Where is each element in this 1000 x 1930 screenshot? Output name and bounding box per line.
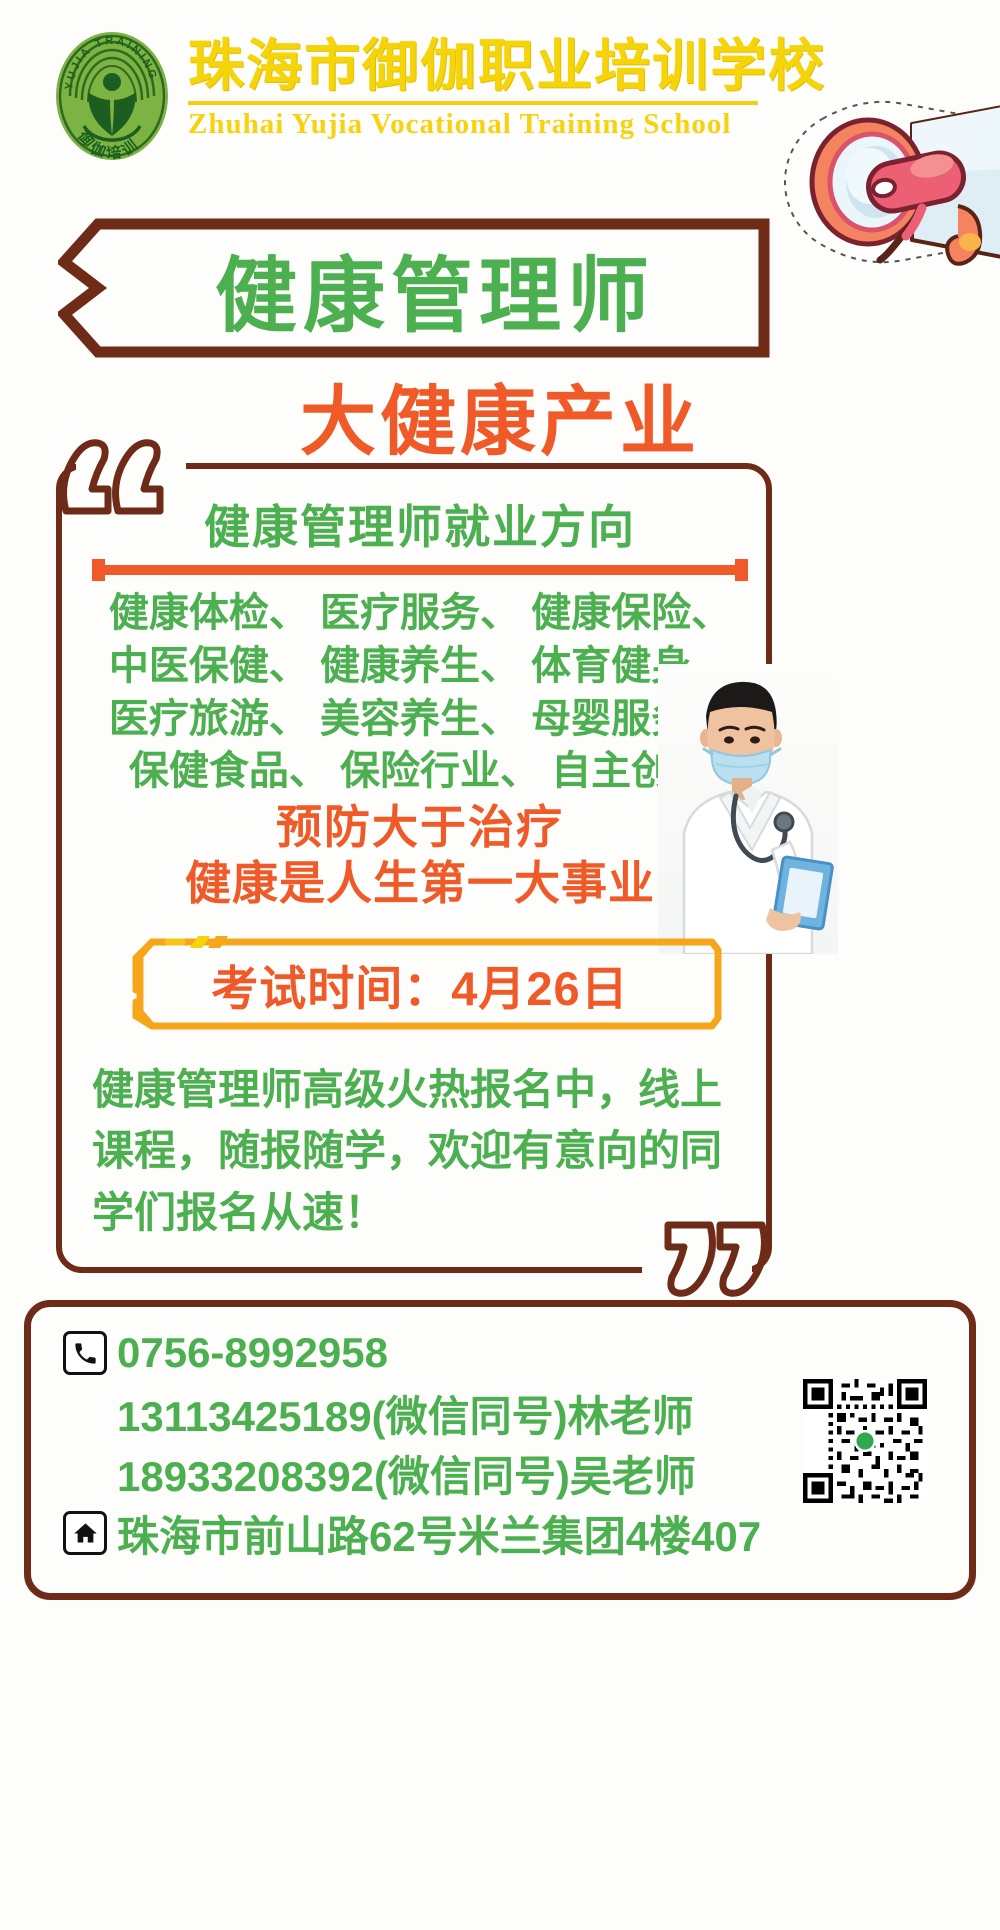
qr-code[interactable] [803, 1379, 927, 1503]
jobs-line: 保健食品、 保险行业、 自主创业 [84, 745, 756, 798]
jobs-line: 中医保健、 健康养生、 体育健身、 [84, 640, 756, 693]
jobs-line: 健康体检、 医疗服务、 健康保险、 [84, 587, 756, 640]
slogan-block: 预防大于治疗 健康是人生第一大事业 [62, 799, 778, 911]
main-title: 健康管理师 [58, 218, 770, 358]
poster-root: YUJIA TRAINING 御伽培训 珠海市御伽职业培训学校 Zhuhai Y… [0, 0, 1000, 1930]
school-name-cn: 珠海市御伽职业培训学校 [188, 38, 788, 97]
title-ribbon: 健康管理师 [58, 218, 770, 358]
content-card: 健康管理师就业方向 健康体检、 医疗服务、 健康保险、 中医保健、 健康养生、 … [56, 463, 772, 1273]
phone-icon [63, 1331, 107, 1375]
contact-text[interactable]: 0756-8992958 [117, 1329, 388, 1377]
slogan-line-2: 健康是人生第一大事业 [62, 855, 778, 911]
megaphone-icon [772, 88, 1000, 278]
promo-paragraph: 健康管理师高级火热报名中，线上课程，随报随学，欢迎有意向的同学们报名从速！ [92, 1059, 752, 1243]
slogan-line-1: 预防大于治疗 [62, 799, 778, 855]
contact-row-mobile-wu: 18933208392(微信同号)吴老师 [63, 1445, 823, 1501]
contact-row-address: 珠海市前山路62号米兰集团4楼407 [63, 1505, 823, 1561]
contact-text[interactable]: 13113425189(微信同号)林老师 [117, 1383, 694, 1444]
school-name-en: Zhuhai Yujia Vocational Training School [188, 108, 788, 141]
contact-text[interactable]: 18933208392(微信同号)吴老师 [117, 1443, 696, 1504]
jobs-list: 健康体检、 医疗服务、 健康保险、 中医保健、 健康养生、 体育健身、 医疗旅游… [84, 587, 756, 798]
jobs-line: 医疗旅游、 美容养生、 母婴服务、 [84, 693, 756, 746]
contact-row-phone: 0756-8992958 [63, 1325, 823, 1381]
home-icon [63, 1511, 107, 1555]
school-logo: YUJIA TRAINING 御伽培训 [52, 30, 172, 162]
contact-card: 0756-8992958 13113425189(微信同号)林老师 189332… [24, 1300, 976, 1600]
exam-time-box: 考试时间：4月26日 [112, 932, 728, 1036]
exam-time-text: 考试时间：4月26日 [112, 932, 728, 1036]
school-name-block: 珠海市御伽职业培训学校 Zhuhai Yujia Vocational Trai… [188, 38, 788, 141]
card-heading: 健康管理师就业方向 [62, 491, 778, 557]
contact-row-mobile-lin: 13113425189(微信同号)林老师 [63, 1385, 823, 1441]
school-name-rule [188, 101, 758, 105]
contact-list: 0756-8992958 13113425189(微信同号)林老师 189332… [63, 1325, 823, 1565]
poster-header: YUJIA TRAINING 御伽培训 珠海市御伽职业培训学校 Zhuhai Y… [0, 0, 1000, 170]
orange-divider [92, 559, 748, 581]
contact-text[interactable]: 珠海市前山路62号米兰集团4楼407 [117, 1503, 761, 1564]
